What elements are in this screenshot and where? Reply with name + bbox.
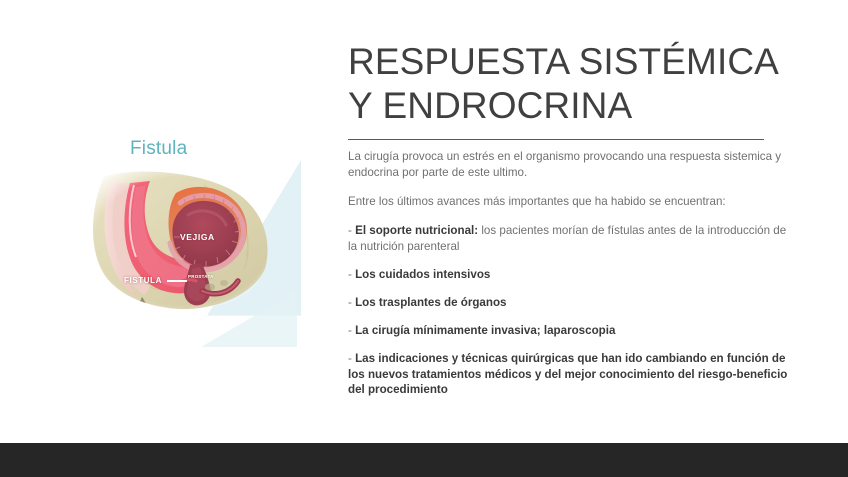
label-vejiga: VEJIGA: [180, 232, 215, 242]
paragraph-intro: La cirugía provoca un estrés en el organ…: [348, 149, 788, 181]
bullet-lead-3: La cirugía mínimamente invasiva; laparos…: [355, 324, 615, 337]
image-caption-fistula: Fistula: [130, 138, 187, 160]
label-leader-line: [167, 280, 187, 282]
page-title-line-2: Y ENDROCRINA: [348, 85, 632, 126]
bullet-item-0: - El soporte nutricional: los pacientes …: [348, 223, 788, 255]
content-column: RESPUESTA SISTÉMICA Y ENDROCRINA La ciru…: [348, 40, 788, 410]
bullet-lead-4: Las indicaciones y técnicas quirúrgicas …: [348, 352, 787, 396]
label-prostata: PROSTATA: [188, 274, 214, 279]
bottom-bar: [0, 443, 848, 477]
bullet-item-1: - Los cuidados intensivos: [348, 267, 788, 283]
body-text: La cirugía provoca un estrés en el organ…: [348, 149, 788, 398]
label-fistula: FISTULA: [124, 276, 162, 285]
page-title: RESPUESTA SISTÉMICA Y ENDROCRINA: [348, 40, 788, 128]
bullet-item-4: - Las indicaciones y técnicas quirúrgica…: [348, 351, 788, 398]
bullet-item-3: - La cirugía mínimamente invasiva; lapar…: [348, 323, 788, 339]
bullet-lead-0: El soporte nutricional:: [355, 224, 478, 237]
bullet-item-2: - Los trasplantes de órganos: [348, 295, 788, 311]
paragraph-lead-in: Entre los últimos avances más importante…: [348, 194, 788, 210]
slide: Fistula: [0, 0, 848, 477]
bullet-lead-2: Los trasplantes de órganos: [355, 296, 506, 309]
anatomy-image-panel: Fistula: [82, 123, 301, 347]
page-title-line-1: RESPUESTA SISTÉMICA: [348, 41, 779, 82]
title-divider: [348, 139, 764, 140]
bullet-lead-1: Los cuidados intensivos: [355, 268, 490, 281]
